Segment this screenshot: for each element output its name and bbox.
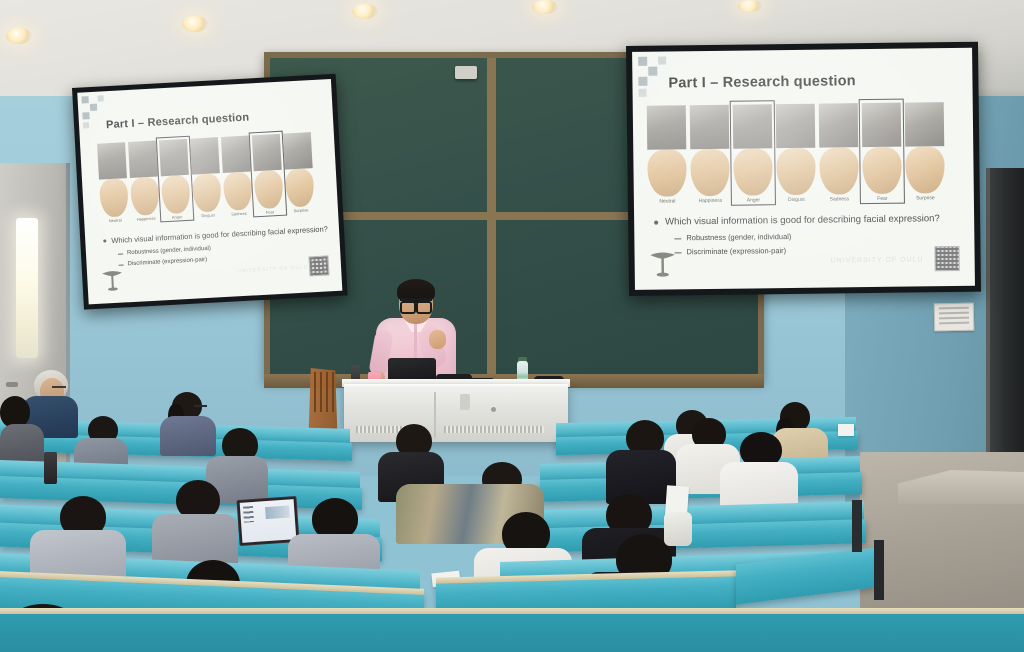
oulu-bird-logo: [648, 247, 676, 279]
synthetic-face: [130, 176, 160, 215]
bag: [664, 512, 692, 546]
thermos-flask: [44, 452, 57, 484]
left-slide: Part I – Research question Neutral Happi…: [77, 79, 342, 304]
grayscale-face: [159, 139, 189, 176]
bullet-text: Robustness (gender, individual): [686, 231, 791, 244]
face-column: Disgust: [190, 137, 222, 218]
face-label: Sadness: [830, 196, 850, 202]
lecture-hall-photo: Part I – Research question Neutral Happi…: [0, 0, 1024, 652]
qr-code-block: [934, 246, 959, 271]
face-column: Neutral: [647, 105, 687, 204]
oulu-bird-logo: [101, 267, 124, 294]
grayscale-face: [776, 104, 816, 148]
chair-slats: [310, 372, 336, 412]
face-label: Surprise: [293, 207, 308, 213]
bullet-dash: [119, 264, 124, 265]
podium-knob[interactable]: [491, 407, 496, 412]
face-label: Neutral: [659, 198, 675, 204]
face-column-highlighted: Anger: [159, 139, 191, 220]
face-column: Surprise: [283, 132, 315, 213]
left-slide-bullets: Which visual information is good for des…: [103, 223, 330, 270]
right-slide-title: Part I – Research question: [668, 73, 856, 91]
face-column: Sadness: [221, 136, 253, 217]
grayscale-face: [690, 105, 730, 149]
synthetic-face: [776, 148, 816, 195]
left-slide-title: Part I – Research question: [106, 111, 250, 131]
synthetic-face: [690, 149, 730, 196]
bench-edge: [0, 608, 1024, 614]
ceiling-downlight: [738, 0, 762, 12]
door-window: [16, 218, 38, 358]
synthetic-face: [647, 149, 687, 196]
grayscale-face: [647, 105, 687, 149]
grayscale-face: [97, 142, 127, 179]
wall-notice: [934, 303, 975, 332]
face-column-highlighted: Fear: [252, 134, 284, 215]
grayscale-face: [128, 141, 158, 178]
face-label: Neutral: [109, 218, 122, 224]
door-handle-icon[interactable]: [6, 382, 18, 387]
ceiling-downlight: [6, 28, 32, 44]
left-projection-screen: Part I – Research question Neutral Happi…: [72, 74, 348, 310]
ceiling-projector: [455, 66, 477, 79]
face-label: Surprise: [916, 195, 935, 201]
face-column: Happiness: [128, 141, 160, 222]
face-column: Disgust: [776, 104, 816, 203]
podium-vent: [444, 426, 544, 433]
synthetic-face: [285, 168, 315, 207]
right-slide: Part I – Research question Neutral Happi…: [632, 48, 975, 290]
face-column: Happiness: [690, 105, 730, 204]
grayscale-face: [862, 103, 902, 147]
presenter-right-hand: [429, 330, 446, 349]
podium-desk: [344, 384, 568, 442]
bullet-dot: [654, 221, 658, 225]
ceiling-downlight: [352, 4, 378, 19]
synthetic-face: [819, 147, 859, 194]
bench-leg: [874, 540, 884, 600]
ceiling-downlight: [532, 0, 558, 14]
grayscale-face: [283, 132, 313, 169]
face-column: Sadness: [819, 103, 859, 202]
foreground-bench-surface: [0, 612, 1024, 652]
synthetic-face: [99, 178, 129, 217]
left-face-grid: Neutral Happiness Anger Disgust: [97, 132, 315, 223]
grayscale-face: [252, 134, 282, 171]
slide-watermark: UNIVERSITY OF OULU: [237, 264, 309, 274]
right-face-grid: Neutral Happiness Anger Disgust: [647, 102, 945, 205]
bullet-text: Discriminate (expression-pair): [686, 245, 786, 258]
right-projection-screen: Part I – Research question Neutral Happi…: [626, 42, 981, 296]
face-column-highlighted: Anger: [733, 104, 773, 203]
face-label: Happiness: [699, 198, 723, 204]
synthetic-face: [905, 146, 945, 193]
face-column: Surprise: [905, 102, 945, 201]
wall-paper-note: [838, 424, 854, 436]
qr-code-block: [308, 255, 329, 276]
synthetic-face: [223, 171, 253, 210]
grayscale-face: [819, 103, 859, 147]
grayscale-face: [733, 104, 773, 148]
synthetic-face: [192, 173, 222, 212]
grayscale-face: [190, 137, 220, 174]
glasses-icon: [400, 298, 432, 310]
right-slide-bullets: Which visual information is good for des…: [654, 212, 955, 259]
face-label: Sadness: [231, 211, 247, 217]
face-label: Happiness: [137, 216, 156, 222]
bullet-dash: [674, 238, 681, 239]
audience-glasses-icon: [194, 405, 207, 412]
audience-glasses-icon: [52, 386, 66, 393]
ceiling-downlight: [182, 16, 208, 32]
face-label: Disgust: [201, 212, 215, 218]
face-column-highlighted: Fear: [862, 103, 902, 202]
bullet-dot: [103, 239, 106, 242]
podium-plate: [460, 394, 470, 410]
grayscale-face: [905, 102, 945, 146]
podium-seam: [434, 392, 436, 438]
face-column: Neutral: [97, 142, 129, 223]
audience-torso: [160, 416, 216, 456]
bullet-dash: [118, 253, 123, 254]
slide-watermark: UNIVERSITY OF OULU: [831, 256, 924, 264]
grayscale-face: [221, 136, 251, 173]
bullet-text: Which visual information is good for des…: [665, 212, 940, 229]
face-label: Disgust: [788, 197, 805, 203]
bench-leg: [852, 500, 862, 552]
